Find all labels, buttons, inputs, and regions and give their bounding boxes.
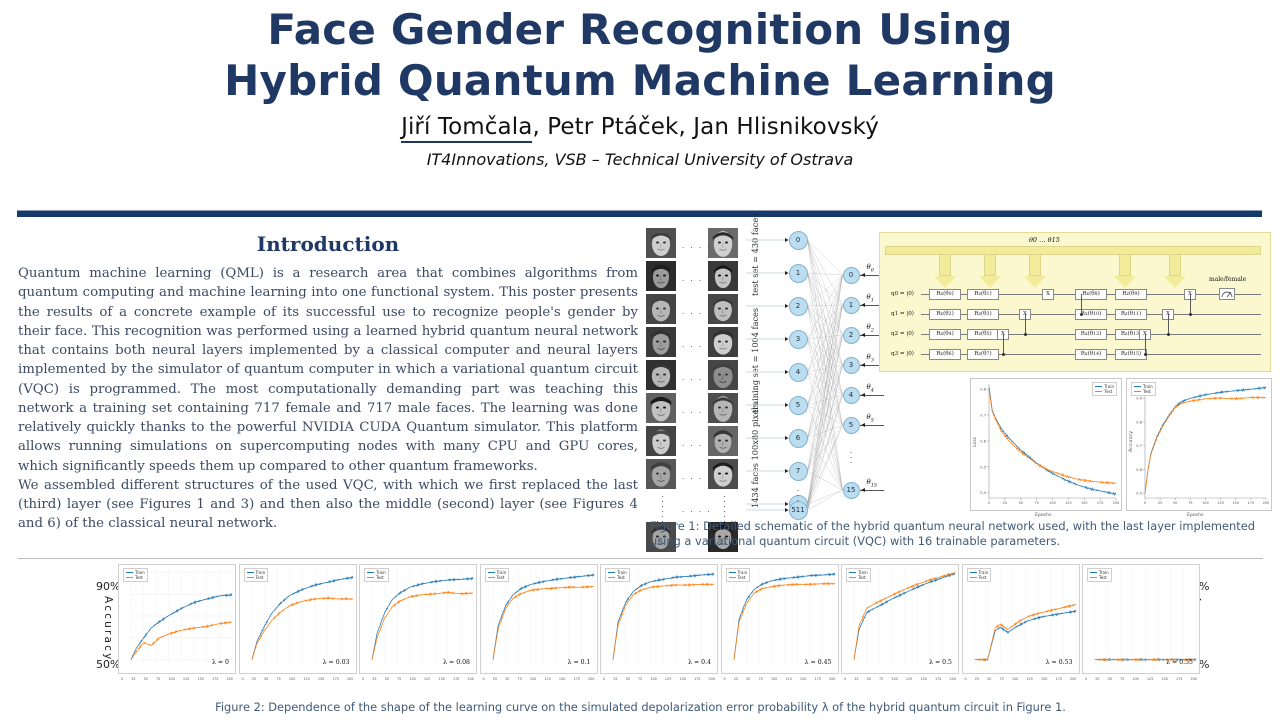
legend-swatch <box>1134 386 1141 387</box>
input-layer-ellipsis: ... <box>794 486 803 501</box>
legend-label: Test <box>497 575 505 580</box>
hidden-node: 4 <box>843 387 860 404</box>
legend-swatch <box>1095 391 1102 392</box>
x-tick: 75 <box>999 677 1003 681</box>
lambda-value-label: λ = 0.5 <box>929 659 952 666</box>
lambda-value-label: λ = 0.53 <box>1046 659 1073 666</box>
svg-text:50: 50 <box>1019 501 1023 505</box>
theta-arrow <box>861 273 865 277</box>
x-tick: 200 <box>1190 677 1196 681</box>
legend-label: Test <box>858 575 866 580</box>
author-list: Jiří Tomčala, Petr Ptáček, Jan Hlisnikov… <box>0 114 1280 140</box>
svg-text:75: 75 <box>1188 501 1192 505</box>
lambda-panel: Train Test λ = 0 0255075100125150175200 <box>118 564 236 674</box>
x-tick: 25 <box>252 677 256 681</box>
x-tick: 150 <box>1161 677 1167 681</box>
chart-legend: Train Test <box>1087 568 1112 582</box>
x-tick: 0 <box>603 677 605 681</box>
rotation-gate: Rz(θ11) <box>1115 309 1147 320</box>
cnot-link <box>1168 314 1169 334</box>
chart-legend: Train Test <box>1092 382 1117 396</box>
theta-output-label: θ1 <box>867 293 874 303</box>
legend-swatch <box>608 577 615 578</box>
rotation-gate: Rz(θ7) <box>967 349 999 360</box>
legend-swatch <box>488 572 495 573</box>
left-axis-top-label: 90% <box>96 580 120 593</box>
theta-arrow <box>861 333 865 337</box>
rotation-gate: Rz(θ3) <box>967 309 999 320</box>
rotation-gate: Rz(θ9) <box>1115 289 1147 300</box>
x-tick: 150 <box>1041 677 1047 681</box>
chart-legend: Train Test <box>967 568 992 582</box>
cnot-control-dot <box>1002 353 1005 356</box>
measurement-gate <box>1219 288 1235 300</box>
hidden-node: 0 <box>843 267 860 284</box>
vqc-feed-arrow-head <box>979 276 1001 288</box>
x-tick: 50 <box>987 677 991 681</box>
legend-label: Test <box>738 575 746 580</box>
x-tick: 100 <box>650 677 656 681</box>
introduction-paragraph-2: We assembled different structures of the… <box>18 476 638 534</box>
svg-text:175: 175 <box>1248 501 1254 505</box>
x-tick: 75 <box>758 677 762 681</box>
panel-x-ticks: 0255075100125150175200 <box>1083 677 1199 681</box>
x-tick: 75 <box>276 677 280 681</box>
input-node: 511 <box>789 501 808 520</box>
x-tick: 100 <box>530 677 536 681</box>
legend-swatch <box>247 577 254 578</box>
cnot-link <box>1081 294 1082 314</box>
theta-output-label: θ15 <box>867 478 878 488</box>
cnot-control-dot <box>1167 333 1170 336</box>
x-tick: 100 <box>289 677 295 681</box>
svg-text:0.7: 0.7 <box>1136 444 1142 448</box>
lambda-panel: Train Test λ = 0.4 025507510012515017520… <box>600 564 718 674</box>
legend-swatch <box>849 572 856 573</box>
svg-text:75: 75 <box>1034 501 1038 505</box>
x-tick: 200 <box>949 677 955 681</box>
lambda-value-label: λ = 0.4 <box>688 659 711 666</box>
vqc-feed-arrow-stem <box>1029 254 1041 276</box>
legend-item: Test <box>247 575 266 580</box>
accuracy-y-axis-label: Accuracy <box>1129 431 1134 452</box>
legend-item: Test <box>849 575 868 580</box>
x-tick: 100 <box>168 677 174 681</box>
x-tick: 25 <box>975 677 979 681</box>
rotation-gate: Rx(θ14) <box>1075 349 1107 360</box>
theta-arrow <box>861 423 865 427</box>
x-tick: 125 <box>1026 677 1032 681</box>
rotation-gate: Rz(θ1) <box>967 289 999 300</box>
chart-legend: Train Test <box>244 568 269 582</box>
x-tick: 0 <box>965 677 967 681</box>
x-tick: 75 <box>1120 677 1124 681</box>
x-tick: 175 <box>1055 677 1061 681</box>
lambda-value-label: λ = 0.08 <box>443 659 470 666</box>
lambda-panel: Train Test λ = 0.08 02550751001251501752… <box>359 564 477 674</box>
x-tick: 75 <box>397 677 401 681</box>
x-tick: 200 <box>708 677 714 681</box>
legend-swatch <box>729 577 736 578</box>
accuracy-x-axis-label: Epochs <box>1187 513 1203 518</box>
lambda-panel: Train Test λ = 0.55 02550751001251501752… <box>1082 564 1200 674</box>
x-tick: 150 <box>559 677 565 681</box>
poster-header: Face Gender Recognition Using Hybrid Qua… <box>0 0 1280 169</box>
x-tick: 25 <box>734 677 738 681</box>
figure-2-panels: 90% 50% Accuracy 90% 50% Accuracy Train … <box>18 560 1263 695</box>
rotation-gate: Rx(θ8) <box>1075 289 1107 300</box>
svg-text:25: 25 <box>1158 501 1162 505</box>
coauthors: , Petr Ptáček, Jan Hlisnikovský <box>532 114 879 140</box>
svg-text:0.8: 0.8 <box>980 388 986 392</box>
theta-output-label: θ4 <box>867 383 874 393</box>
x-tick: 100 <box>771 677 777 681</box>
loss-x-axis-label: Epochs <box>1035 513 1051 518</box>
x-tick: 100 <box>409 677 415 681</box>
svg-text:125: 125 <box>1065 501 1071 505</box>
rotation-gate: Rx(θ2) <box>929 309 961 320</box>
x-tick: 0 <box>362 677 364 681</box>
affiliation: IT4Innovations, VSB – Technical Universi… <box>0 150 1280 169</box>
panel-x-ticks: 0255075100125150175200 <box>963 677 1079 681</box>
x-tick: 125 <box>183 677 189 681</box>
x-tick: 50 <box>626 677 630 681</box>
introduction-paragraph-1: Quantum machine learning (QML) is a rese… <box>18 264 638 476</box>
svg-text:200: 200 <box>1263 501 1269 505</box>
svg-text:0.7: 0.7 <box>980 413 986 417</box>
hidden-layer-ellipsis: ... <box>847 448 856 463</box>
legend-item: Test <box>488 575 507 580</box>
legend-swatch <box>849 577 856 578</box>
lambda-panel: Train Test λ = 0.03 02550751001251501752… <box>239 564 357 674</box>
x-tick: 25 <box>131 677 135 681</box>
x-tick: 150 <box>438 677 444 681</box>
qubit-label: q3 = |0⟩ <box>891 351 914 357</box>
lambda-panel: Train Test λ = 0.1 025507510012515017520… <box>480 564 598 674</box>
figure-1-schematic: ...... <box>646 228 1274 518</box>
x-tick: 150 <box>679 677 685 681</box>
figure-2-caption-wrap: Figure 2: Dependence of the shape of the… <box>18 700 1263 715</box>
chart-legend: Train Test <box>485 568 510 582</box>
svg-text:50: 50 <box>1173 501 1177 505</box>
x-tick: 175 <box>212 677 218 681</box>
hidden-node: 1 <box>843 297 860 314</box>
cnot-control-dot <box>1024 333 1027 336</box>
chart-legend: Train Test <box>123 568 148 582</box>
x-tick: 200 <box>829 677 835 681</box>
cnot-target-gate: X <box>1042 289 1054 300</box>
lambda-value-label: λ = 0.55 <box>1166 659 1193 666</box>
panel-x-ticks: 0255075100125150175200 <box>240 677 356 681</box>
legend-swatch <box>126 577 133 578</box>
x-tick: 200 <box>226 677 232 681</box>
presenting-author: Jiří Tomčala <box>401 114 532 143</box>
cnot-link <box>1003 334 1004 354</box>
legend-item: Test <box>126 575 145 580</box>
page-title-line2: Hybrid Quantum Machine Learning <box>0 55 1280 106</box>
panel-x-ticks: 0255075100125150175200 <box>481 677 597 681</box>
x-tick: 175 <box>332 677 338 681</box>
x-tick: 125 <box>665 677 671 681</box>
svg-text:175: 175 <box>1097 501 1103 505</box>
input-node: 1 <box>789 264 808 283</box>
input-node: 3 <box>789 330 808 349</box>
svg-text:0.6: 0.6 <box>980 439 986 443</box>
theta-arrow <box>861 363 865 367</box>
figure-1-caption-wrap: Figure 1: Detailed schematic of the hybr… <box>650 519 1278 550</box>
lambda-value-label: λ = 0.45 <box>805 659 832 666</box>
x-tick: 100 <box>1012 677 1018 681</box>
legend-item: Test <box>1134 389 1153 394</box>
figure-2-caption: Figure 2: Dependence of the shape of the… <box>18 700 1263 715</box>
input-node: 7 <box>789 462 808 481</box>
legend-label: Test <box>376 575 384 580</box>
theta-arrow <box>861 488 865 492</box>
svg-text:0.6: 0.6 <box>1136 468 1142 472</box>
legend-item: Test <box>1095 389 1114 394</box>
legend-swatch <box>729 572 736 573</box>
x-tick: 175 <box>935 677 941 681</box>
x-tick: 75 <box>517 677 521 681</box>
figure-2-top-divider <box>18 558 1263 559</box>
legend-item: Test <box>970 575 989 580</box>
panel-x-ticks: 0255075100125150175200 <box>119 677 235 681</box>
qubit-label: q2 = |0⟩ <box>891 331 914 337</box>
x-tick: 0 <box>121 677 123 681</box>
legend-swatch <box>247 572 254 573</box>
theta-arrow <box>861 393 865 397</box>
svg-text:0.8: 0.8 <box>1136 420 1142 424</box>
svg-text:125: 125 <box>1217 501 1223 505</box>
x-tick: 50 <box>746 677 750 681</box>
loss-y-axis-label: Loss <box>973 437 978 447</box>
x-tick: 0 <box>844 677 846 681</box>
cnot-control-dot <box>1144 353 1147 356</box>
cnot-control-dot <box>1080 313 1083 316</box>
chart-legend: Train Test <box>1131 382 1156 396</box>
qubit-label: q1 = |0⟩ <box>891 311 914 317</box>
x-tick: 150 <box>800 677 806 681</box>
x-tick: 25 <box>493 677 497 681</box>
x-tick: 25 <box>372 677 376 681</box>
vqc-feed-arrow-head <box>1024 276 1046 288</box>
legend-swatch <box>608 572 615 573</box>
legend-swatch <box>970 577 977 578</box>
legend-swatch <box>367 572 374 573</box>
x-tick: 200 <box>588 677 594 681</box>
rotation-gate: Rx(θ0) <box>929 289 961 300</box>
legend-item: Test <box>367 575 386 580</box>
panel-x-ticks: 0255075100125150175200 <box>360 677 476 681</box>
legend-swatch <box>1134 391 1141 392</box>
x-tick: 75 <box>879 677 883 681</box>
x-tick: 175 <box>1176 677 1182 681</box>
chart-legend: Train Test <box>605 568 630 582</box>
svg-text:150: 150 <box>1081 501 1087 505</box>
x-tick: 175 <box>573 677 579 681</box>
hidden-node: 2 <box>843 327 860 344</box>
x-tick: 50 <box>144 677 148 681</box>
x-tick: 25 <box>613 677 617 681</box>
x-tick: 75 <box>638 677 642 681</box>
legend-label: Test <box>1104 389 1112 394</box>
legend-label: Test <box>1099 575 1107 580</box>
x-tick: 100 <box>891 677 897 681</box>
vqc-feed-arrow-stem <box>984 254 996 276</box>
legend-swatch <box>1090 572 1097 573</box>
legend-swatch <box>367 577 374 578</box>
svg-text:200: 200 <box>1113 501 1119 505</box>
input-node: 0 <box>789 231 808 250</box>
vqc-feed-arrow-stem <box>939 254 951 276</box>
loss-chart: 0.40.50.60.70.80255075100125150175200 Tr… <box>970 378 1122 511</box>
x-tick: 200 <box>467 677 473 681</box>
theta-output-label: θ2 <box>867 323 874 333</box>
qubit-label: q0 = |0⟩ <box>891 291 914 297</box>
svg-text:0.5: 0.5 <box>1136 492 1142 496</box>
cnot-link <box>1145 334 1146 354</box>
svg-text:150: 150 <box>1233 501 1239 505</box>
x-tick: 50 <box>385 677 389 681</box>
lambda-panel: Train Test λ = 0.53 02550751001251501752… <box>962 564 1080 674</box>
chart-legend: Train Test <box>846 568 871 582</box>
svg-text:0.9: 0.9 <box>1136 397 1142 401</box>
cnot-link <box>1190 294 1191 314</box>
introduction-section: Introduction Quantum machine learning (Q… <box>18 232 638 534</box>
svg-text:0: 0 <box>988 501 990 505</box>
x-tick: 0 <box>1085 677 1087 681</box>
cnot-link <box>1025 314 1026 334</box>
panel-x-ticks: 0255075100125150175200 <box>601 677 717 681</box>
svg-text:25: 25 <box>1003 501 1007 505</box>
x-tick: 125 <box>785 677 791 681</box>
lambda-value-label: λ = 0.1 <box>568 659 591 666</box>
legend-label: Test <box>135 575 143 580</box>
svg-text:100: 100 <box>1049 501 1055 505</box>
rotation-gate: Rz(θ15) <box>1115 349 1147 360</box>
x-tick: 125 <box>1147 677 1153 681</box>
section-heading-introduction: Introduction <box>18 232 638 256</box>
x-tick: 50 <box>505 677 509 681</box>
x-tick: 50 <box>867 677 871 681</box>
vqc-feed-arrow-head <box>1114 276 1136 288</box>
rotation-gate: Rx(θ4) <box>929 329 961 340</box>
x-tick: 200 <box>347 677 353 681</box>
legend-item: Test <box>729 575 748 580</box>
x-tick: 0 <box>724 677 726 681</box>
vqc-feed-arrow-stem <box>1119 254 1131 276</box>
x-tick: 50 <box>1108 677 1112 681</box>
legend-label: Test <box>1143 389 1151 394</box>
figure-1-caption: Figure 1: Detailed schematic of the hybr… <box>650 519 1278 550</box>
x-tick: 150 <box>318 677 324 681</box>
hidden-node: 15 <box>843 482 860 499</box>
x-tick: 125 <box>906 677 912 681</box>
input-node: 5 <box>789 396 808 415</box>
rotation-gate: Rz(θ5) <box>967 329 999 340</box>
vqc-feed-arrow-head <box>934 276 956 288</box>
hidden-node: 3 <box>843 357 860 374</box>
legend-swatch <box>970 572 977 573</box>
x-tick: 175 <box>814 677 820 681</box>
x-tick: 175 <box>453 677 459 681</box>
legend-item: Test <box>608 575 627 580</box>
introduction-body: Quantum machine learning (QML) is a rese… <box>18 264 638 534</box>
output-label-male-female: male/female <box>1209 276 1246 283</box>
theta-output-label: θ3 <box>867 353 874 363</box>
svg-text:0.5: 0.5 <box>980 465 986 469</box>
svg-text:0: 0 <box>1144 501 1146 505</box>
x-tick: 25 <box>854 677 858 681</box>
legend-label: Test <box>256 575 264 580</box>
theta-arrow <box>861 303 865 307</box>
rotation-gate: Rx(θ12) <box>1075 329 1107 340</box>
input-node: 6 <box>789 429 808 448</box>
x-tick: 75 <box>156 677 160 681</box>
x-tick: 50 <box>264 677 268 681</box>
panel-x-ticks: 0255075100125150175200 <box>842 677 958 681</box>
header-divider <box>17 210 1262 217</box>
svg-text:0.4: 0.4 <box>980 491 986 495</box>
legend-swatch <box>1095 386 1102 387</box>
hidden-node: 5 <box>843 417 860 434</box>
x-tick: 200 <box>1070 677 1076 681</box>
panel-x-ticks: 0255075100125150175200 <box>722 677 838 681</box>
legend-label: Test <box>617 575 625 580</box>
lambda-value-label: λ = 0 <box>212 659 229 666</box>
lambda-value-label: λ = 0.03 <box>323 659 350 666</box>
vqc-feed-arrow-head <box>1164 276 1186 288</box>
chart-legend: Train Test <box>364 568 389 582</box>
cnot-control-dot <box>1189 313 1192 316</box>
theta-output-label: θ5 <box>867 413 874 423</box>
legend-swatch <box>488 577 495 578</box>
chart-legend: Train Test <box>726 568 751 582</box>
page-title-line1: Face Gender Recognition Using <box>0 4 1280 55</box>
x-tick: 0 <box>483 677 485 681</box>
rotation-gate: Rx(θ6) <box>929 349 961 360</box>
x-tick: 175 <box>694 677 700 681</box>
x-tick: 150 <box>197 677 203 681</box>
lambda-panel: Train Test λ = 0.45 02550751001251501752… <box>721 564 839 674</box>
vqc-parameter-range-label: θ0 … θ15 <box>1029 236 1060 244</box>
input-node: 2 <box>789 297 808 316</box>
input-node: 4 <box>789 363 808 382</box>
lambda-panel: Train Test λ = 0.5 025507510012515017520… <box>841 564 959 674</box>
legend-item: Test <box>1090 575 1109 580</box>
accuracy-chart: 0.50.60.70.80.90255075100125150175200 Tr… <box>1126 378 1272 511</box>
svg-text:100: 100 <box>1202 501 1208 505</box>
x-tick: 125 <box>303 677 309 681</box>
legend-swatch <box>126 572 133 573</box>
vqc-feed-arrow-stem <box>1169 254 1181 276</box>
x-tick: 0 <box>242 677 244 681</box>
x-tick: 125 <box>424 677 430 681</box>
x-tick: 125 <box>544 677 550 681</box>
legend-label: Test <box>979 575 987 580</box>
left-axis-title: Accuracy <box>102 596 114 662</box>
x-tick: 150 <box>920 677 926 681</box>
x-tick: 25 <box>1095 677 1099 681</box>
x-tick: 100 <box>1132 677 1138 681</box>
legend-swatch <box>1090 577 1097 578</box>
theta-output-label: θ0 <box>867 263 874 273</box>
